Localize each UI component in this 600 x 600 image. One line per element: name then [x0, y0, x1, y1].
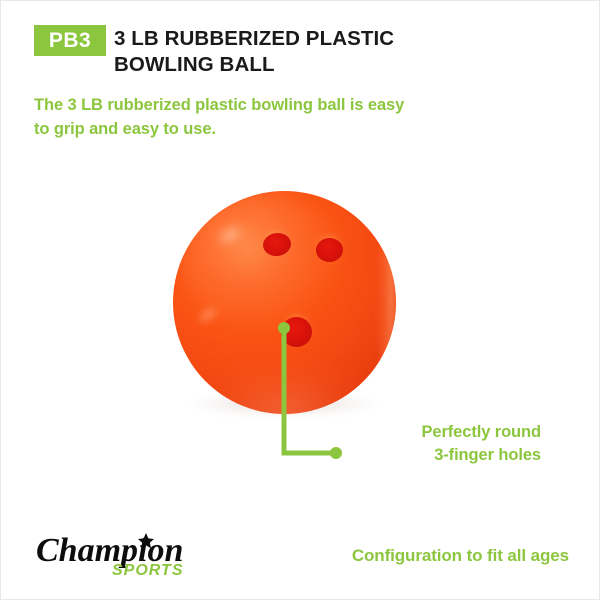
page-title-line-2: BOWLING BALL [114, 52, 574, 78]
logo-brand-sub: SPORTS [112, 562, 184, 579]
top-left-finger-hole [262, 231, 293, 258]
top-right-finger-hole [315, 237, 344, 263]
product-description-line-1: The 3 LB rubberized plastic bowling ball… [34, 93, 554, 117]
bottom-thumb-hole [281, 317, 312, 347]
callout-label-line-1: Perfectly round [241, 421, 541, 444]
callout-label: Perfectly round 3-finger holes [241, 421, 541, 467]
product-description-line-2: to grip and easy to use. [34, 117, 554, 141]
callout-label-line-2: 3-finger holes [241, 444, 541, 467]
footer-tagline: Configuration to fit all ages [239, 546, 569, 566]
bowling-ball [173, 191, 396, 414]
champion-sports-logo: Champion SPORTS [34, 525, 194, 579]
product-description: The 3 LB rubberized plastic bowling ball… [34, 93, 554, 141]
product-infographic: PB3 3 LB RUBBERIZED PLASTIC BOWLING BALL… [0, 0, 600, 600]
product-image [161, 179, 411, 431]
page-title-line-1: 3 LB RUBBERIZED PLASTIC [114, 26, 574, 52]
hole-bore [281, 317, 312, 347]
ball-rim-highlight [375, 236, 395, 365]
sku-badge: PB3 [34, 25, 106, 56]
header: PB3 3 LB RUBBERIZED PLASTIC BOWLING BALL [34, 25, 574, 78]
ball-bounce-light [191, 356, 378, 414]
page-title: 3 LB RUBBERIZED PLASTIC BOWLING BALL [114, 25, 574, 78]
